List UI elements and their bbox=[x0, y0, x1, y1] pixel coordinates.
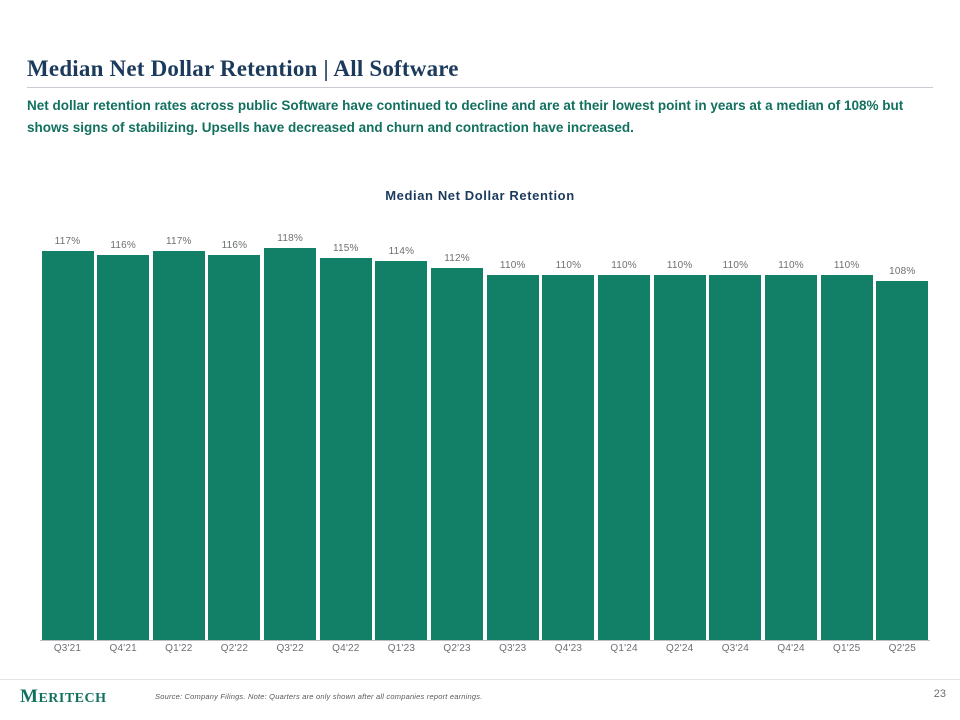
bar-column: 116% bbox=[96, 228, 151, 640]
bar-column: 117% bbox=[40, 228, 95, 640]
x-axis-tick-label: Q1'22 bbox=[151, 643, 206, 654]
x-axis-tick-label: Q4'21 bbox=[96, 643, 151, 654]
x-axis-tick-label: Q4'22 bbox=[318, 643, 373, 654]
page-number: 23 bbox=[934, 688, 946, 700]
bar bbox=[876, 281, 928, 640]
logo-lead: M bbox=[20, 686, 38, 707]
bar-column: 114% bbox=[374, 228, 429, 640]
x-axis-tick-label: Q3'22 bbox=[263, 643, 318, 654]
bar-value-label: 114% bbox=[389, 246, 415, 257]
bar-column: 110% bbox=[652, 228, 707, 640]
bar bbox=[709, 275, 761, 640]
bar-value-label: 110% bbox=[611, 260, 637, 271]
bar-chart: 117%116%117%116%118%115%114%112%110%110%… bbox=[40, 228, 930, 640]
bar bbox=[375, 261, 427, 640]
x-axis-line bbox=[40, 640, 930, 641]
source-note: Source: Company Filings. Note: Quarters … bbox=[155, 692, 483, 701]
bar bbox=[208, 255, 260, 640]
bar bbox=[821, 275, 873, 640]
bar-value-label: 112% bbox=[444, 253, 470, 264]
bar-column: 116% bbox=[207, 228, 262, 640]
bar-column: 110% bbox=[541, 228, 596, 640]
bar-value-label: 115% bbox=[333, 243, 359, 254]
bar bbox=[542, 275, 594, 640]
x-axis-tick-label: Q1'24 bbox=[597, 643, 652, 654]
bar-value-label: 110% bbox=[723, 260, 749, 271]
slide-subtitle: Net dollar retention rates across public… bbox=[27, 95, 917, 139]
bar bbox=[97, 255, 149, 640]
bar-value-label: 117% bbox=[55, 236, 81, 247]
bar-value-label: 117% bbox=[166, 236, 192, 247]
x-axis-labels: Q3'21Q4'21Q1'22Q2'22Q3'22Q4'22Q1'23Q2'23… bbox=[40, 643, 930, 654]
bar-column: 117% bbox=[151, 228, 206, 640]
bar bbox=[42, 251, 94, 640]
x-axis-tick-label: Q4'24 bbox=[764, 643, 819, 654]
slide: Median Net Dollar Retention | All Softwa… bbox=[0, 0, 960, 720]
bar bbox=[320, 258, 372, 640]
bar-value-label: 116% bbox=[110, 240, 136, 251]
bar-column: 110% bbox=[764, 228, 819, 640]
bar-value-label: 110% bbox=[834, 260, 860, 271]
bar bbox=[264, 248, 316, 640]
bar-column: 110% bbox=[485, 228, 540, 640]
bar-value-label: 110% bbox=[500, 260, 526, 271]
bar-value-label: 110% bbox=[667, 260, 693, 271]
footer-divider bbox=[0, 679, 960, 680]
logo-rest: ERITECH bbox=[38, 691, 106, 706]
x-axis-tick-label: Q2'25 bbox=[875, 643, 930, 654]
bar bbox=[654, 275, 706, 640]
bar bbox=[431, 268, 483, 640]
bar-value-label: 110% bbox=[556, 260, 582, 271]
title-divider bbox=[27, 87, 933, 88]
x-axis-tick-label: Q4'23 bbox=[541, 643, 596, 654]
bar-value-label: 108% bbox=[889, 266, 915, 277]
meritech-logo: MERITECH bbox=[20, 686, 107, 708]
chart-title: Median Net Dollar Retention bbox=[0, 188, 960, 203]
x-axis-tick-label: Q2'23 bbox=[430, 643, 485, 654]
x-axis-tick-label: Q2'24 bbox=[652, 643, 707, 654]
bar-column: 108% bbox=[875, 228, 930, 640]
bar-value-label: 116% bbox=[222, 240, 248, 251]
x-axis-tick-label: Q2'22 bbox=[207, 643, 262, 654]
x-axis-tick-label: Q3'24 bbox=[708, 643, 763, 654]
bar-column: 110% bbox=[708, 228, 763, 640]
bar-column: 115% bbox=[318, 228, 373, 640]
bar bbox=[487, 275, 539, 640]
bar-value-label: 118% bbox=[277, 233, 303, 244]
x-axis-tick-label: Q3'21 bbox=[40, 643, 95, 654]
page-title: Median Net Dollar Retention | All Softwa… bbox=[27, 56, 459, 82]
bar-value-label: 110% bbox=[778, 260, 804, 271]
bar-column: 112% bbox=[430, 228, 485, 640]
bar bbox=[765, 275, 817, 640]
x-axis-tick-label: Q1'23 bbox=[374, 643, 429, 654]
x-axis-tick-label: Q3'23 bbox=[485, 643, 540, 654]
bar-column: 110% bbox=[819, 228, 874, 640]
x-axis-tick-label: Q1'25 bbox=[819, 643, 874, 654]
bar-column: 110% bbox=[597, 228, 652, 640]
bar bbox=[153, 251, 205, 640]
bar bbox=[598, 275, 650, 640]
bar-column: 118% bbox=[263, 228, 318, 640]
